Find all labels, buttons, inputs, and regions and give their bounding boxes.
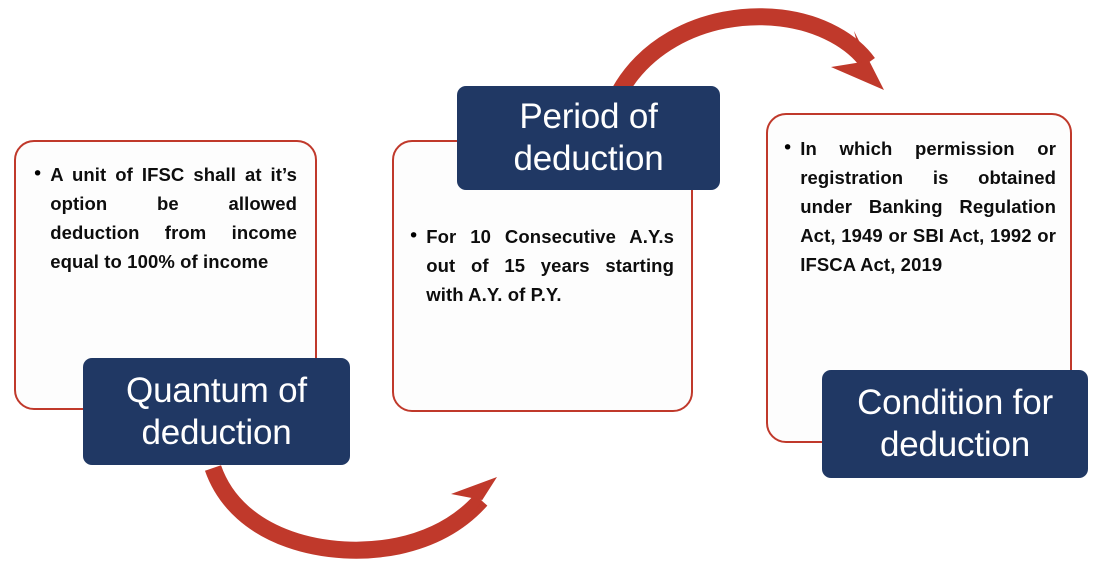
card-quantum-of-deduction-text: A unit of IFSC shall at it’s option be a…: [50, 160, 297, 276]
card-condition-for-deduction-body: • In which permission or registration is…: [778, 134, 1064, 384]
card-condition-for-deduction-text: In which permission or registration is o…: [800, 134, 1056, 279]
label-condition-for-deduction[interactable]: Condition for deduction: [822, 370, 1088, 478]
label-period-of-deduction[interactable]: Period of deduction: [457, 86, 720, 190]
card-period-of-deduction-body: • For 10 Consecutive A.Y.s out of 15 yea…: [404, 222, 682, 372]
diagram-canvas: • A unit of IFSC shall at it’s option be…: [0, 0, 1104, 561]
label-quantum-of-deduction-text: Quantum of deduction: [93, 370, 340, 454]
card-period-of-deduction-text: For 10 Consecutive A.Y.s out of 15 years…: [426, 222, 674, 309]
bullet-icon: •: [32, 160, 50, 189]
label-condition-for-deduction-text: Condition for deduction: [832, 382, 1078, 466]
card-quantum-of-deduction-body: • A unit of IFSC shall at it’s option be…: [28, 160, 303, 390]
label-quantum-of-deduction[interactable]: Quantum of deduction: [83, 358, 350, 465]
bullet-icon: •: [408, 222, 426, 251]
label-period-of-deduction-text: Period of deduction: [467, 96, 710, 180]
bullet-icon: •: [782, 134, 800, 163]
arrow-quantum-to-period-icon: [213, 468, 497, 550]
